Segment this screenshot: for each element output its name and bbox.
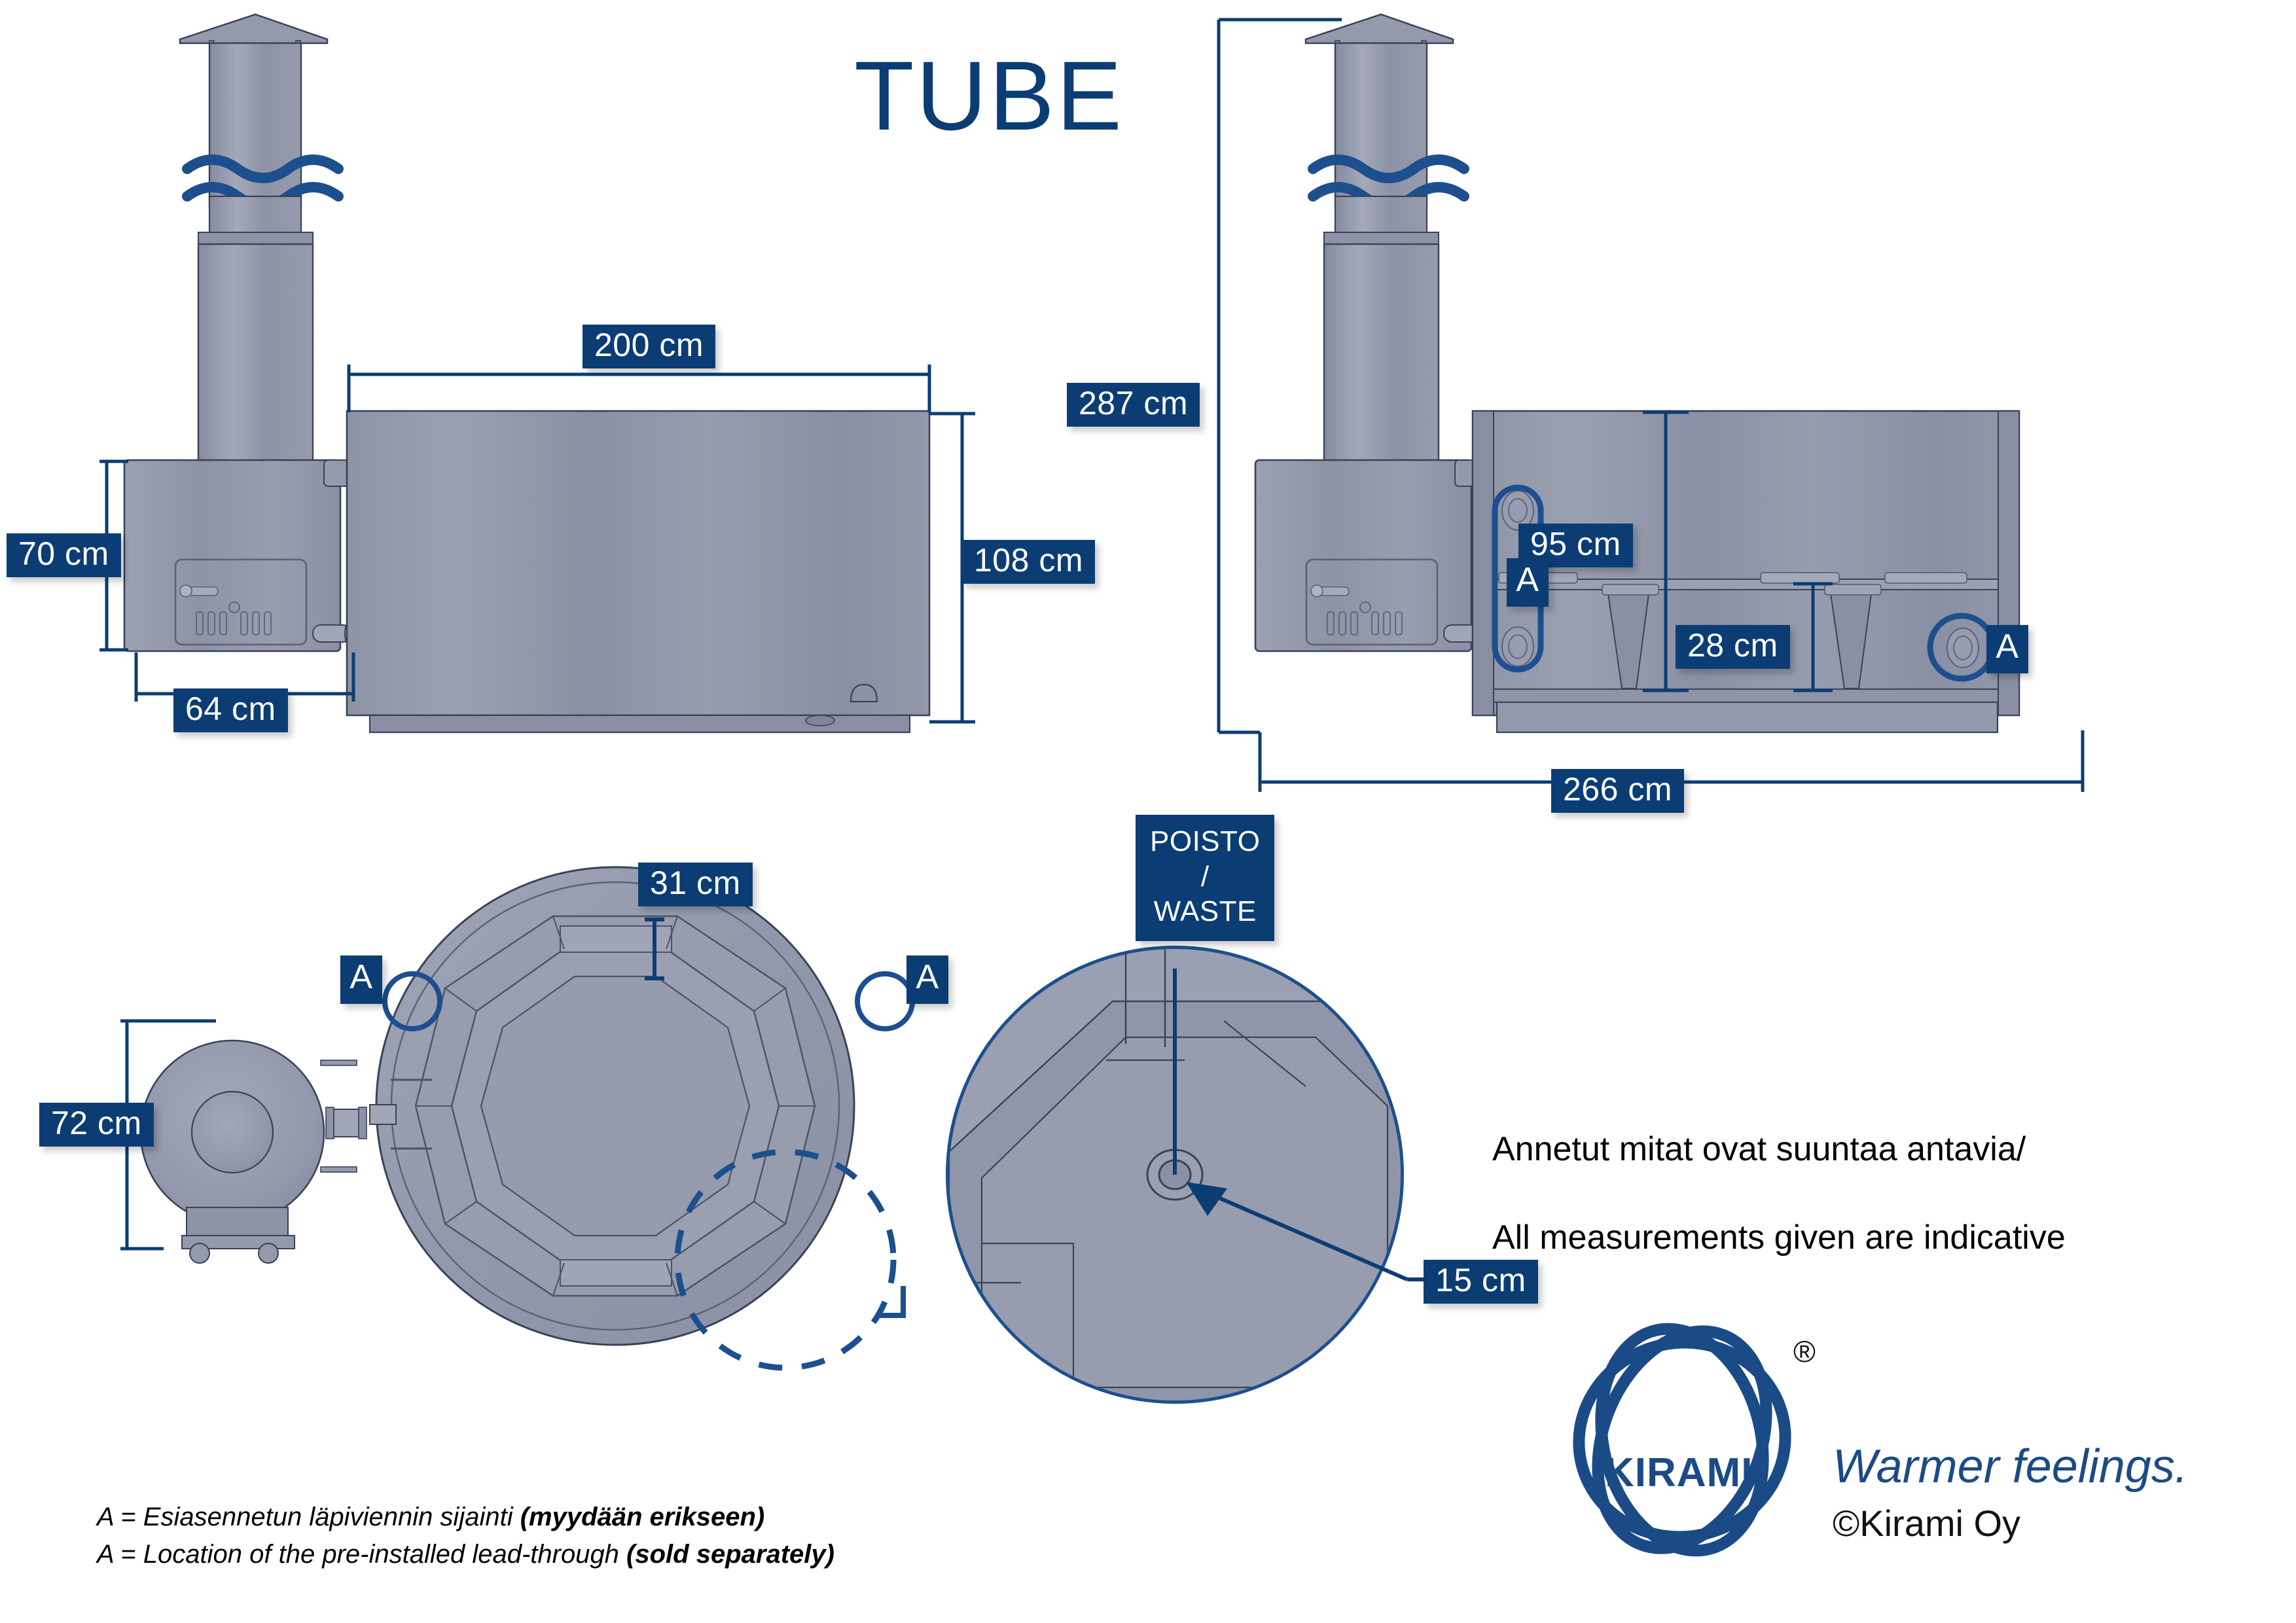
tub-floor-top <box>481 976 749 1236</box>
dimension-badge-15cm: 15 cm <box>1424 1260 1538 1304</box>
dimension-badge-28cm: 28 cm <box>1676 625 1790 669</box>
waste-callout-line-3: WASTE <box>1154 894 1257 929</box>
dimension-badge-287cm: 287 cm <box>1067 383 1200 427</box>
marker-badge-A-top-right: A <box>906 955 948 1004</box>
chimney-pipe-base-left <box>198 244 313 463</box>
kirami-logo-wordmark: KIRAMI <box>1605 1450 1753 1496</box>
dimension-badge-108cm: 108 cm <box>962 540 1095 584</box>
view-detail-magnifier <box>942 942 1443 1414</box>
dimension-badge-64cm: 64 cm <box>173 688 288 732</box>
waste-callout-line-1: POISTO <box>1150 824 1260 859</box>
dimension-badge-72cm: 72 cm <box>39 1103 154 1147</box>
view-side-right <box>1255 14 2019 732</box>
top-lead-through-circle-right <box>857 974 912 1029</box>
dimension-badge-266cm: 266 cm <box>1551 769 1684 813</box>
tub-drain-knob-left <box>851 685 877 702</box>
legend-block: A = Esiasennetun läpiviennin sijainti (m… <box>97 1499 834 1573</box>
waste-callout-badge: POISTO / WASTE <box>1136 815 1274 941</box>
heater-wheel-right <box>259 1243 278 1263</box>
heater-wheel-left <box>190 1243 209 1263</box>
tub-base-right <box>1497 702 1998 732</box>
view-heater-front <box>141 1041 367 1263</box>
legend-fi-text: A = Esiasennetun läpiviennin sijainti <box>97 1503 520 1531</box>
copyright-notice: ©Kirami Oy <box>1833 1502 2020 1544</box>
tub-wall-left-right-view <box>1473 411 1494 715</box>
indicative-note-line-2: All measurements given are indicative <box>1492 1219 2066 1257</box>
indicative-note-line-1: Annetut mitat ovat suuntaa antavia/ <box>1492 1130 2026 1168</box>
page-title: TUBE <box>854 39 1124 152</box>
bench-slat-bottom <box>560 1260 672 1286</box>
stove-body-right <box>1255 460 1471 651</box>
marker-badge-A-top-left: A <box>340 955 382 1004</box>
legend-line-fi: A = Esiasennetun läpiviennin sijainti (m… <box>97 1499 834 1536</box>
legend-en-text: A = Location of the pre-installed lead-t… <box>97 1540 626 1569</box>
waste-callout-line-2: / <box>1201 859 1210 895</box>
kirami-logo: KIRAMI <box>1584 1322 1793 1564</box>
marker-badge-A-right-view-left: A <box>1507 558 1549 607</box>
drawing-geometry <box>0 0 2296 1623</box>
dimension-badge-200cm: 200 cm <box>583 325 715 368</box>
brand-tagline: Warmer feelings. <box>1833 1440 2188 1493</box>
legend-fi-bold: (myydään erikseen) <box>520 1503 765 1531</box>
dimension-badge-70cm: 70 cm <box>7 533 121 577</box>
heater-drum-inner <box>192 1092 273 1173</box>
registered-trademark-icon: ® <box>1793 1334 1816 1369</box>
lead-through-fitting-right <box>1947 628 1979 668</box>
view-top <box>370 867 912 1368</box>
tub-body-left <box>347 411 929 715</box>
legend-line-en: A = Location of the pre-installed lead-t… <box>97 1536 834 1573</box>
technical-drawing-canvas: TUBE 200 cm 108 cm 70 cm 64 cm 287 cm 95… <box>0 0 2296 1623</box>
indicative-note: Annetut mitat ovat suuntaa antavia/ All … <box>1492 1083 2066 1260</box>
legend-en-bold: (sold separately) <box>626 1540 834 1569</box>
stove-body-left <box>124 460 340 651</box>
lead-through-fitting-bottom-left <box>1502 627 1534 666</box>
dimension-badge-31cm: 31 cm <box>638 863 753 906</box>
marker-badge-A-right-view-right: A <box>1986 625 2028 673</box>
